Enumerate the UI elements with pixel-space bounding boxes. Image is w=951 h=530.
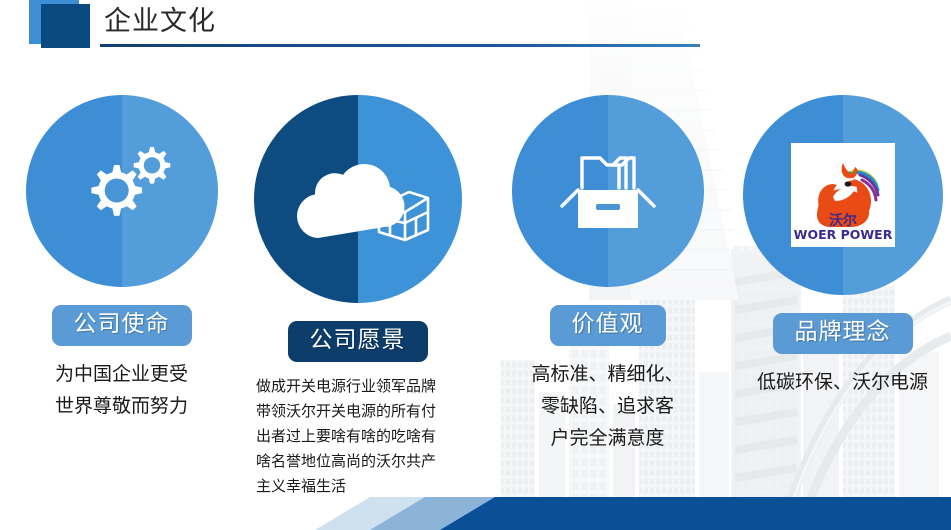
culture-column-brand: 沃尔 WOER POWER 品牌理念 低碳环保、沃尔电源 — [735, 95, 950, 398]
badge-vision: 公司愿景 — [288, 321, 428, 362]
icon-circle-mission — [26, 95, 218, 287]
page-title: 企业文化 — [104, 5, 216, 39]
body-line: 做成开关电源行业领军品牌 — [256, 374, 465, 399]
body-line: 啥名誉地位高尚的沃尔共产 — [256, 449, 465, 474]
badge-wrap-mission: 公司使命 — [14, 305, 229, 346]
body-line: 高标准、精细化、 — [500, 358, 715, 390]
body-line: 为中国企业更受 — [14, 358, 229, 390]
title-accent-square-dark — [41, 4, 90, 48]
badge-wrap-values: 价值观 — [500, 305, 715, 346]
badge-brand: 品牌理念 — [773, 313, 913, 354]
badge-mission: 公司使命 — [52, 305, 192, 346]
culture-column-vision: 公司愿景 做成开关电源行业领军品牌 带领沃尔开关电源的所有付 出者过上要啥有啥的… — [250, 95, 465, 499]
badge-wrap-vision: 公司愿景 — [250, 321, 465, 362]
body-text-mission: 为中国企业更受 世界尊敬而努力 — [14, 358, 229, 422]
body-text-vision: 做成开关电源行业领军品牌 带领沃尔开关电源的所有付 出者过上要啥有啥的吃啥有 啥… — [250, 374, 465, 499]
icon-circle-values — [512, 95, 704, 287]
body-line: 户完全满意度 — [500, 422, 715, 454]
icon-circle-vision — [254, 95, 462, 303]
bottom-banner — [0, 485, 951, 530]
logo-english-text: WOER POWER — [793, 227, 892, 242]
culture-column-values: 价值观 高标准、精细化、 零缺陷、追求客 户完全满意度 — [500, 95, 715, 454]
title-underline — [100, 44, 700, 47]
badge-wrap-brand: 品牌理念 — [735, 313, 950, 354]
body-line: 低碳环保、沃尔电源 — [735, 366, 950, 398]
body-line: 零缺陷、追求客 — [500, 390, 715, 422]
body-text-values: 高标准、精细化、 零缺陷、追求客 户完全满意度 — [500, 358, 715, 454]
culture-column-mission: 公司使命 为中国企业更受 世界尊敬而努力 — [14, 95, 229, 422]
icon-circle-brand: 沃尔 WOER POWER — [743, 95, 943, 295]
slide-canvas: 企业文化 公司使命 为中国企业更受 世界尊敬而努力 — [0, 0, 951, 530]
body-line: 出者过上要啥有啥的吃啥有 — [256, 424, 465, 449]
body-text-brand: 低碳环保、沃尔电源 — [735, 366, 950, 398]
body-line: 带领沃尔开关电源的所有付 — [256, 399, 465, 424]
body-line: 世界尊敬而努力 — [14, 390, 229, 422]
woer-power-logo: 沃尔 WOER POWER — [791, 143, 895, 247]
badge-values: 价值观 — [550, 305, 666, 346]
